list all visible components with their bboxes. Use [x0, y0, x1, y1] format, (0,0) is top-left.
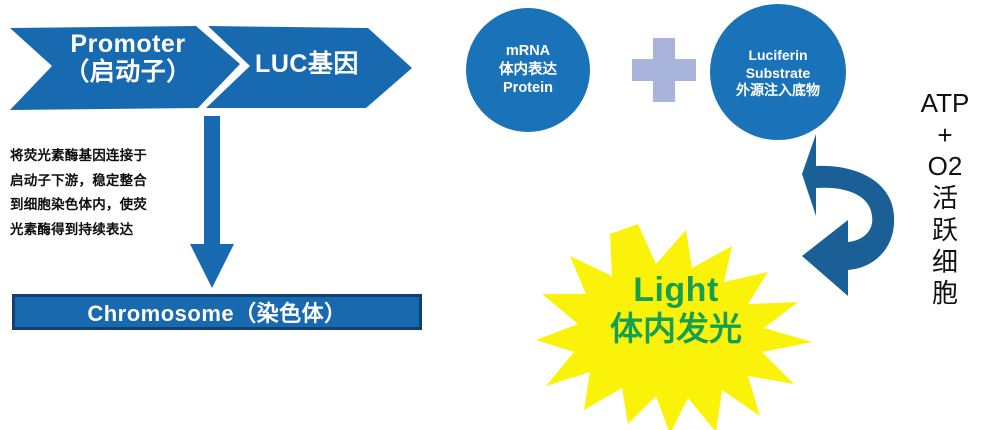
promoter-label-en: Promoter — [70, 30, 185, 58]
light-label-cn: 体内发光 — [576, 311, 776, 347]
light-label-en: Light — [576, 272, 776, 309]
luc-gene-label: LUC基因 — [232, 50, 382, 78]
chromosome-label: Chromosome（染色体） — [87, 296, 346, 328]
cofactor-line-1: ATP — [915, 88, 975, 120]
mrna-protein-circle: mRNA 体内表达 Protein — [466, 8, 590, 132]
luciferin-line-1: Luciferin — [748, 46, 807, 64]
mrna-line-2: 体内表达 — [499, 61, 557, 80]
description-line-1: 将荧光素酶基因连接于 — [10, 144, 190, 169]
mrna-line-3: Protein — [503, 79, 553, 98]
luciferin-line-2: Substrate — [746, 64, 811, 82]
promoter-label-cn: （启动子） — [64, 58, 192, 86]
cofactor-line-5: 跃 — [915, 215, 975, 247]
plus-vertical-bar — [653, 38, 675, 102]
cofactor-line-3: O2 — [915, 151, 975, 183]
cofactor-line-4: 活 — [915, 183, 975, 215]
description-line-3: 到细胞染色体内，使荧 — [10, 193, 190, 218]
description-line-2: 启动子下游，稳定整合 — [10, 169, 190, 194]
description-line-4: 光素酶得到持续表达 — [10, 218, 190, 243]
luciferin-substrate-circle: Luciferin Substrate 外源注入底物 — [710, 4, 846, 140]
gene-construct-chevrons: Promoter （启动子） LUC基因 — [0, 14, 430, 114]
plus-icon — [632, 38, 696, 102]
cofactor-line-7: 胞 — [915, 278, 975, 310]
construct-description: 将荧光素酶基因连接于 启动子下游，稳定整合 到细胞染色体内，使荧 光素酶得到持续… — [10, 144, 190, 242]
promoter-label: Promoter （启动子） — [38, 30, 218, 86]
cofactor-label: ATP + O2 活 跃 细 胞 — [915, 88, 975, 310]
luciferin-line-3: 外源注入底物 — [722, 82, 834, 99]
chromosome-bar: Chromosome（染色体） — [12, 294, 422, 330]
down-arrow-icon — [186, 116, 238, 292]
light-output-label: Light 体内发光 — [576, 272, 776, 348]
mrna-line-1: mRNA — [506, 42, 550, 61]
cofactor-line-6: 细 — [915, 247, 975, 279]
diagram-canvas: Promoter （启动子） LUC基因 将荧光素酶基因连接于 启动子下游，稳定… — [0, 0, 1000, 430]
cofactor-line-2: + — [915, 120, 975, 152]
